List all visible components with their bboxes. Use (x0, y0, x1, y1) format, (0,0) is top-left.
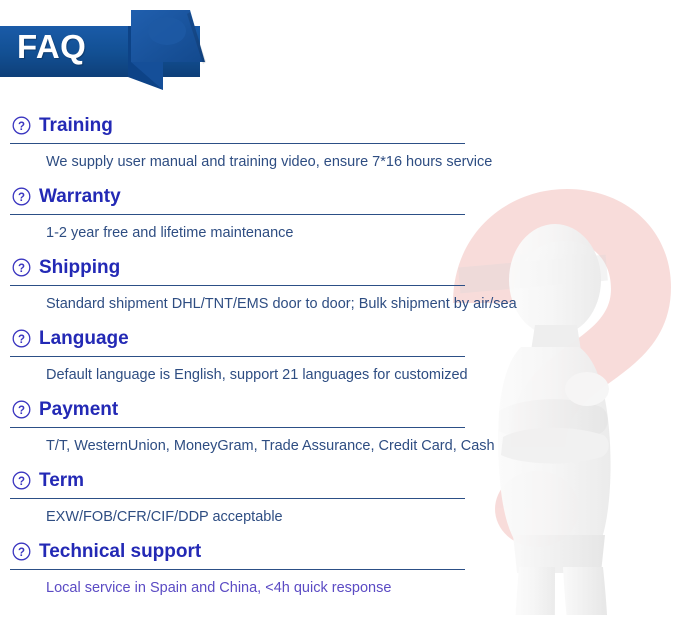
faq-body: Default language is English, support 21 … (0, 357, 680, 384)
faq-title: Warranty (39, 186, 121, 207)
faq-item-payment: ? Payment T/T, WesternUnion, MoneyGram, … (0, 396, 680, 456)
svg-text:?: ? (18, 334, 25, 346)
faq-title: Training (39, 115, 113, 136)
faq-heading-row: ? Payment (0, 396, 680, 423)
faq-title: Term (39, 470, 84, 491)
banner-tab-circle (148, 17, 186, 45)
faq-list: ? Training We supply user manual and tra… (0, 112, 680, 598)
faq-heading-row: ? Term (0, 467, 680, 494)
faq-heading-row: ? Shipping (0, 254, 680, 281)
faq-title: Language (39, 328, 129, 349)
faq-title: Technical support (39, 541, 201, 562)
faq-heading-row: ? Technical support (0, 538, 680, 565)
faq-heading-row: ? Training (0, 112, 680, 139)
faq-body: We supply user manual and training video… (0, 144, 680, 171)
svg-text:?: ? (18, 547, 25, 559)
circled-question-mark-icon: ? (12, 400, 31, 419)
faq-body: Standard shipment DHL/TNT/EMS door to do… (0, 286, 680, 313)
faq-item-language: ? Language Default language is English, … (0, 325, 680, 385)
svg-text:?: ? (18, 476, 25, 488)
svg-text:?: ? (18, 263, 25, 275)
faq-heading-row: ? Language (0, 325, 680, 352)
circled-question-mark-icon: ? (12, 542, 31, 561)
list-spacer (0, 172, 680, 183)
faq-item-training: ? Training We supply user manual and tra… (0, 112, 680, 172)
page-title: FAQ (17, 28, 86, 66)
faq-body: Local service in Spain and China, <4h qu… (0, 570, 680, 597)
faq-item-term: ? Term EXW/FOB/CFR/CIF/DDP acceptable (0, 467, 680, 527)
faq-header-banner (0, 0, 680, 105)
faq-item-warranty: ? Warranty 1-2 year free and lifetime ma… (0, 183, 680, 243)
circled-question-mark-icon: ? (12, 116, 31, 135)
faq-body: EXW/FOB/CFR/CIF/DDP acceptable (0, 499, 680, 526)
circled-question-mark-icon: ? (12, 471, 31, 490)
faq-body: T/T, WesternUnion, MoneyGram, Trade Assu… (0, 428, 680, 455)
circled-question-mark-icon: ? (12, 258, 31, 277)
circled-question-mark-icon: ? (12, 187, 31, 206)
list-spacer (0, 243, 680, 254)
list-spacer (0, 527, 680, 538)
faq-heading-row: ? Warranty (0, 183, 680, 210)
faq-item-shipping: ? Shipping Standard shipment DHL/TNT/EMS… (0, 254, 680, 314)
faq-item-technical-support: ? Technical support Local service in Spa… (0, 538, 680, 598)
svg-text:?: ? (18, 121, 25, 133)
list-spacer (0, 385, 680, 396)
faq-title: Payment (39, 399, 118, 420)
list-spacer (0, 314, 680, 325)
svg-text:?: ? (18, 192, 25, 204)
list-spacer (0, 456, 680, 467)
svg-text:?: ? (18, 405, 25, 417)
faq-body: 1-2 year free and lifetime maintenance (0, 215, 680, 242)
circled-question-mark-icon: ? (12, 329, 31, 348)
faq-title: Shipping (39, 257, 120, 278)
